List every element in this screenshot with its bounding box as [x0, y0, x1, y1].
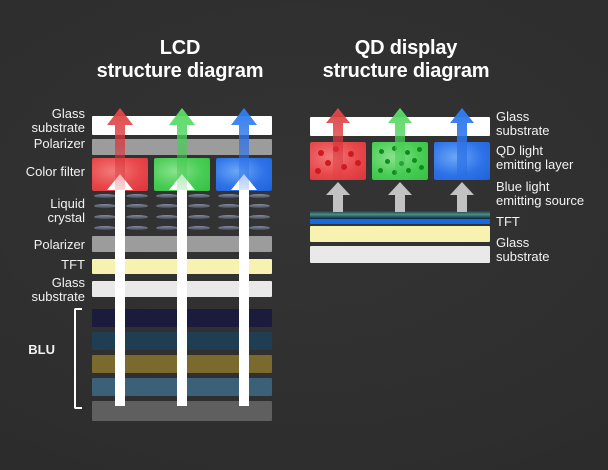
lcd-backlight-arrow-blue-channel: [230, 174, 258, 406]
qd-label-glass-substrate-bottom: Glass substrate: [496, 236, 608, 265]
qd-label-qd-light-emitting-layer: QD light emitting layer: [496, 144, 608, 173]
lcd-label-blu: BLU: [0, 343, 55, 357]
lcd-label-polarizer-bottom: Polarizer: [0, 238, 85, 252]
qd-emitted-arrow-blue: [448, 108, 476, 180]
lcd-label-polarizer-top: Polarizer: [0, 137, 85, 151]
qd-layer-blue-bar: [310, 219, 490, 224]
qd-emitted-arrow-green: [386, 108, 414, 180]
blu-bracket: [74, 308, 82, 409]
lcd-emitted-arrow-red: [106, 108, 134, 190]
qd-label-tft: TFT: [496, 215, 608, 229]
qd-source-arrow-green-channel: [386, 182, 414, 212]
qd-label-blue-light-emitting-source: Blue light emitting source: [496, 180, 608, 209]
qd-source-arrow-red-channel: [324, 182, 352, 212]
qd-label-glass-substrate-top: Glass substrate: [496, 110, 608, 139]
qd-source-arrow-blue-channel: [448, 182, 476, 212]
qd-emitted-arrow-red: [324, 108, 352, 180]
qd-layer-tft: [310, 226, 490, 242]
lcd-emitted-arrow-blue: [230, 108, 258, 190]
diagram-canvas: LCD structure diagram QD display structu…: [0, 0, 608, 470]
lcd-emitted-arrow-green: [168, 108, 196, 190]
qd-layer-glass-substrate-bottom: [310, 246, 490, 263]
lcd-title: LCD structure diagram: [92, 37, 268, 83]
lcd-label-glass-substrate-top: Glass substrate: [0, 107, 85, 136]
lcd-backlight-arrow-green-channel: [168, 174, 196, 406]
lcd-label-tft: TFT: [0, 258, 85, 272]
lcd-label-color-filter: Color filter: [0, 165, 85, 179]
lcd-label-liquid-crystal: Liquid crystal: [0, 197, 85, 226]
lcd-backlight-arrow-red-channel: [106, 174, 134, 406]
qd-title: QD display structure diagram: [318, 37, 494, 83]
lcd-label-glass-substrate-bottom: Glass substrate: [0, 276, 85, 305]
